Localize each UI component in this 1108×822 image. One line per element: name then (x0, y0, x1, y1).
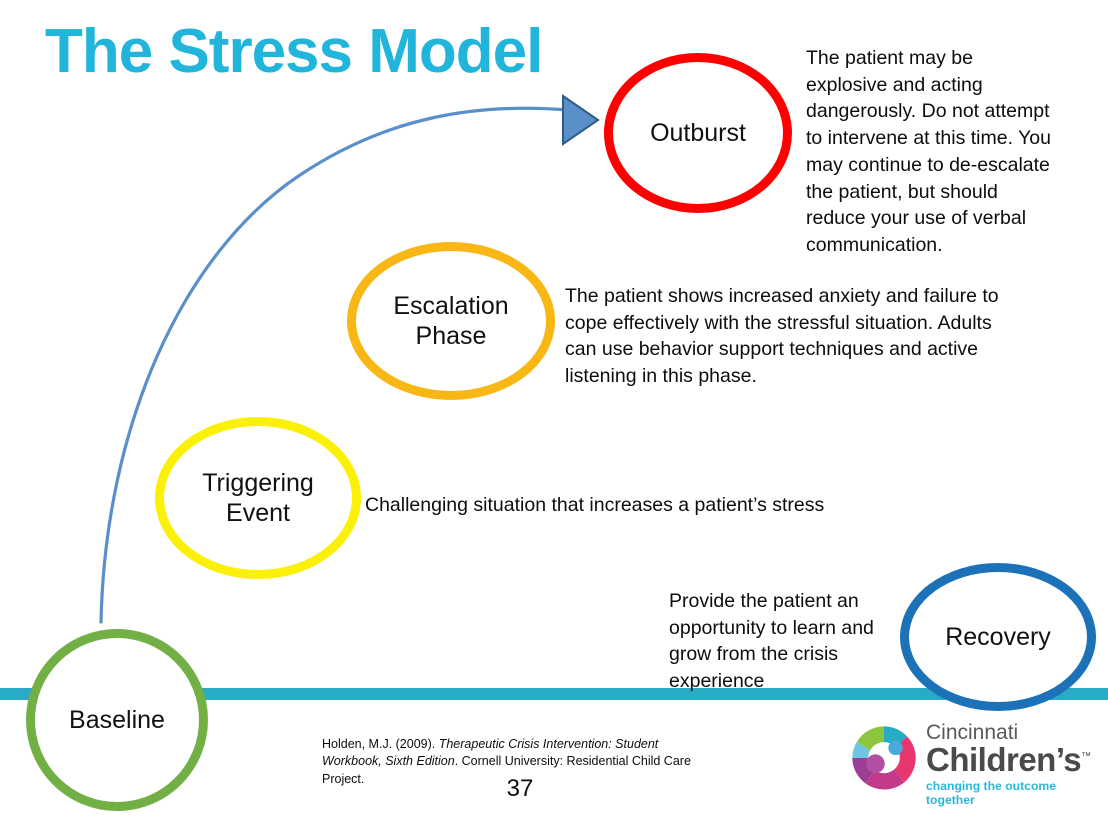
logo-line-childrens: Children’s™ (926, 743, 1098, 778)
phase-circle-outburst[interactable]: Outburst (604, 53, 792, 213)
cincinnati-childrens-logo: Cincinnati Children’s™ changing the outc… (848, 720, 1098, 802)
phase-label-baseline: Baseline (63, 705, 171, 736)
phase-circle-baseline[interactable]: Baseline (26, 629, 208, 811)
logo-line-cincinnati: Cincinnati (926, 722, 1098, 743)
page-title: The Stress Model (45, 18, 542, 86)
logo-tagline: changing the outcome together (926, 779, 1098, 808)
phase-circle-recovery[interactable]: Recovery (900, 563, 1096, 711)
page-number: 37 (440, 775, 600, 803)
phase-label-triggering-line2: Event (226, 499, 290, 527)
phase-description-triggering: Challenging situation that increases a p… (365, 492, 885, 519)
phase-label-triggering: Triggering Event (196, 468, 320, 529)
logo-swirl-icon (848, 722, 920, 794)
phase-description-escalation: The patient shows increased anxiety and … (565, 283, 1015, 390)
phase-circle-triggering[interactable]: Triggering Event (155, 417, 361, 579)
phase-label-triggering-line1: Triggering (202, 469, 314, 497)
stress-model-slide: The Stress Model Outburst The patient ma… (0, 0, 1108, 822)
phase-circle-escalation[interactable]: Escalation Phase (347, 242, 555, 400)
logo-childrens-text: Children’s (926, 741, 1081, 778)
phase-description-outburst: The patient may be explosive and acting … (806, 45, 1054, 259)
phase-label-outburst: Outburst (644, 118, 752, 149)
trademark-icon: ™ (1081, 751, 1091, 762)
phase-label-escalation-line2: Phase (416, 322, 487, 350)
phase-label-recovery: Recovery (939, 622, 1057, 653)
phase-label-escalation-line1: Escalation (393, 292, 508, 320)
citation-part1: Holden, M.J. (2009). (322, 737, 439, 751)
logo-wordmark: Cincinnati Children’s™ changing the outc… (926, 722, 1098, 808)
phase-label-escalation: Escalation Phase (387, 291, 514, 352)
phase-description-recovery: Provide the patient an opportunity to le… (669, 588, 897, 695)
